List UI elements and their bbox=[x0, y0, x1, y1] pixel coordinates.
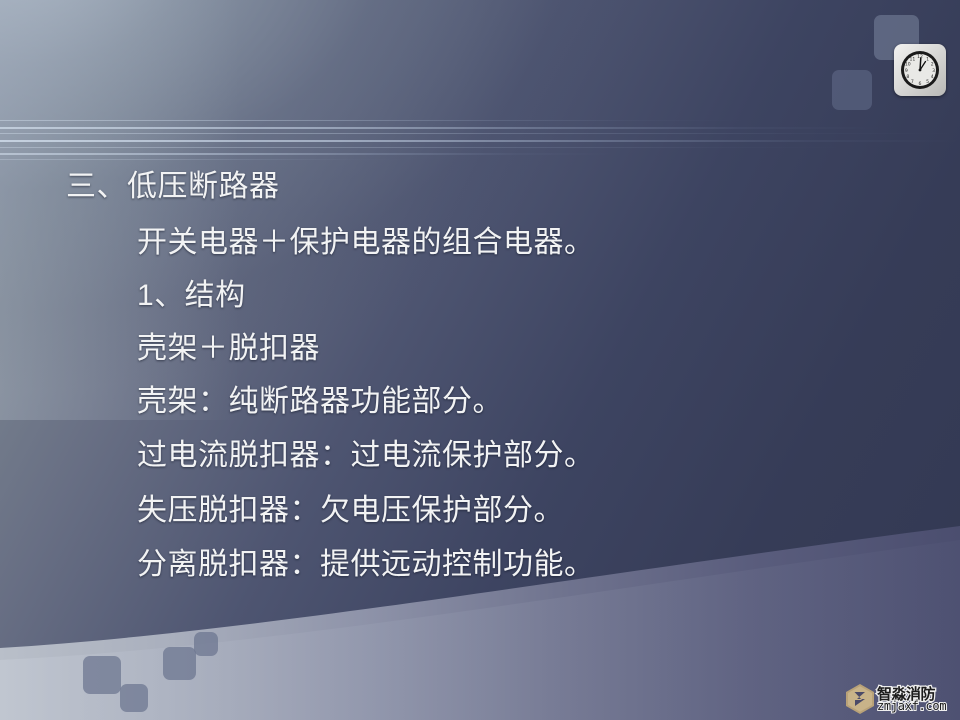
slide-body-line: 失压脱扣器：欠电压保护部分。 bbox=[137, 496, 564, 526]
watermark-text: 智淼消防 zmjaxf.com bbox=[877, 683, 955, 715]
slide-body-line: 分离脱扣器：提供远动控制功能。 bbox=[137, 550, 595, 580]
watermark-url: zmjaxf.com bbox=[877, 699, 946, 713]
slide-text-content: 三、低压断路器 开关电器＋保护电器的组合电器。 1、结构 壳架＋脱扣器 壳架：纯… bbox=[0, 0, 960, 720]
zm-logo-icon bbox=[846, 684, 874, 714]
presentation-slide: 12 1 2 3 4 5 6 7 8 9 10 11 三、低压断路器 开关电器＋… bbox=[0, 0, 960, 720]
slide-body-line: 过电流脱扣器：过电流保护部分。 bbox=[137, 441, 595, 471]
slide-body-line: 壳架：纯断路器功能部分。 bbox=[137, 387, 503, 417]
slide-body-line: 开关电器＋保护电器的组合电器。 bbox=[137, 228, 595, 258]
slide-title-line: 三、低压断路器 bbox=[66, 172, 280, 202]
slide-body-line: 1、结构 bbox=[137, 281, 246, 311]
slide-body-line: 壳架＋脱扣器 bbox=[137, 334, 320, 364]
watermark: 智淼消防 zmjaxf.com bbox=[846, 682, 955, 716]
